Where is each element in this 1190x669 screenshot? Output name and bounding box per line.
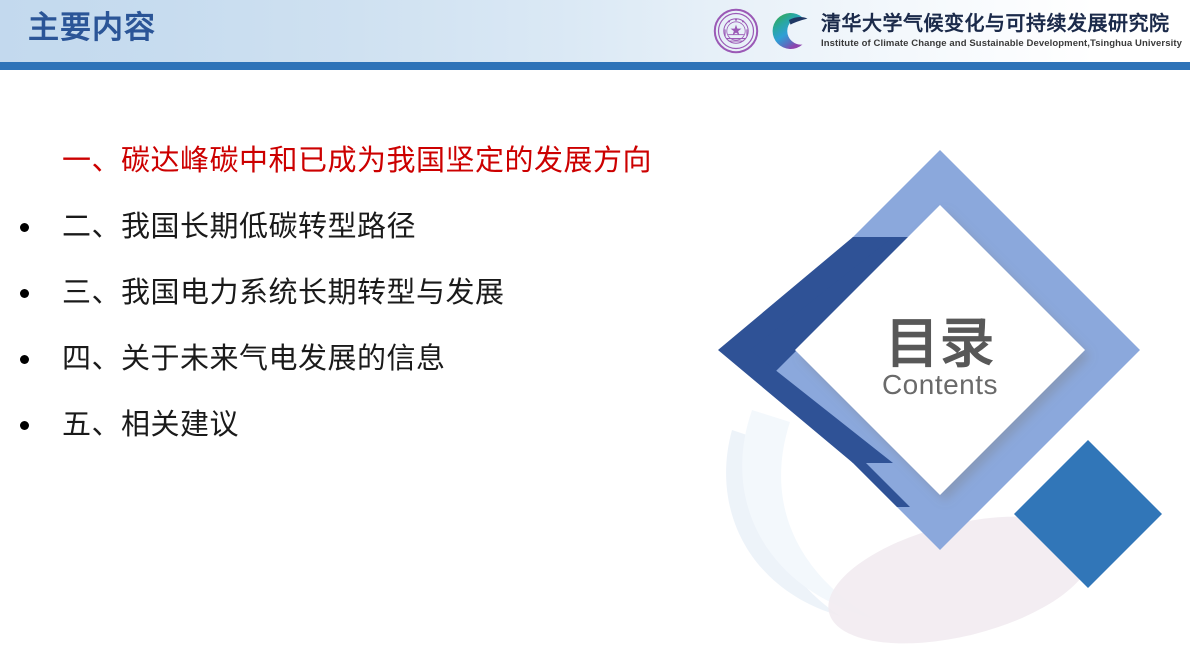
bullet-icon [20, 355, 29, 364]
agenda-item-3-label: 三、我国电力系统长期转型与发展 [62, 273, 505, 313]
agenda-item-2[interactable]: 二、我国长期低碳转型路径 [0, 194, 720, 260]
institute-name-en: Institute of Climate Change and Sustaina… [821, 37, 1182, 50]
bullet-icon [20, 223, 29, 232]
bullet-icon [20, 421, 29, 430]
agenda-item-3[interactable]: 三、我国电力系统长期转型与发展 [0, 260, 720, 326]
agenda-list: 一、碳达峰碳中和已成为我国坚定的发展方向 二、我国长期低碳转型路径 三、我国电力… [0, 128, 720, 458]
page-title: 主要内容 [28, 6, 156, 50]
agenda-item-1-label: 一、碳达峰碳中和已成为我国坚定的发展方向 [62, 141, 652, 181]
inner-white-diamond [795, 205, 1085, 495]
institute-logo-lockup: 清华大学气候变化与可持续发展研究院 Institute of Climate C… [713, 5, 1182, 57]
institute-name-cn: 清华大学气候变化与可持续发展研究院 [821, 13, 1182, 36]
tsinghua-seal-icon [713, 8, 759, 54]
agenda-item-4[interactable]: 四、关于未来气电发展的信息 [0, 326, 720, 392]
agenda-item-2-label: 二、我国长期低碳转型路径 [62, 207, 416, 247]
diamond-artwork-icon [690, 110, 1190, 669]
contents-diamond-graphic: 目录 Contents [690, 110, 1190, 669]
header-accent-rule [0, 62, 1190, 70]
iccsd-c-mark-icon [763, 7, 815, 55]
bullet-icon [20, 289, 29, 298]
slide-root: 主要内容 [0, 0, 1190, 669]
agenda-item-4-label: 四、关于未来气电发展的信息 [62, 339, 446, 379]
agenda-item-5-label: 五、相关建议 [62, 405, 239, 445]
institute-name-block: 清华大学气候变化与可持续发展研究院 Institute of Climate C… [821, 13, 1182, 50]
agenda-item-1[interactable]: 一、碳达峰碳中和已成为我国坚定的发展方向 [0, 128, 720, 194]
agenda-item-5[interactable]: 五、相关建议 [0, 392, 720, 458]
